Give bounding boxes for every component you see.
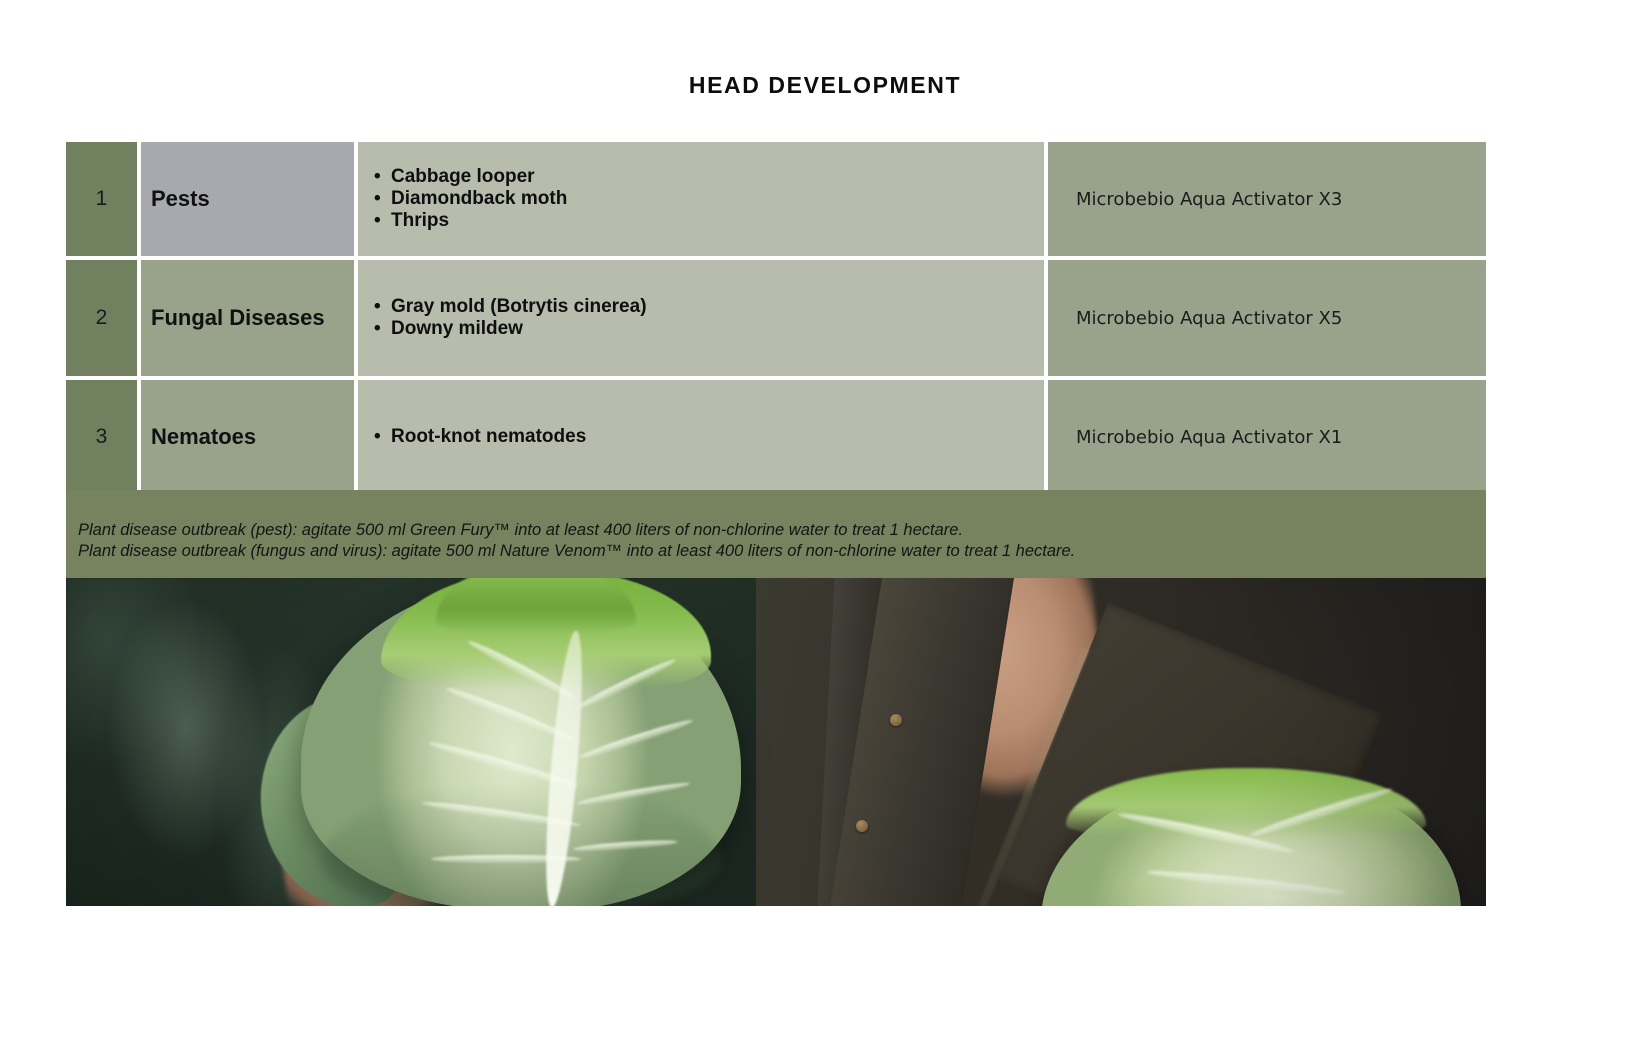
page-title: HEAD DEVELOPMENT [0,72,1650,99]
list-item: Cabbage looper [374,166,567,188]
garment-button [890,714,902,726]
note-line-pest: Plant disease outbreak (pest): agitate 5… [78,520,1486,541]
row-category-label: Fungal Diseases [141,260,354,376]
list-item: Root-knot nematodes [374,426,586,448]
list-item: Downy mildew [374,318,647,340]
treatment-note-band: Plant disease outbreak (pest): agitate 5… [66,490,1486,578]
row-product: Microbebio Aqua Activator X1 [1048,380,1486,494]
table-row: 1 Pests Cabbage looper Diamondback moth … [66,142,1486,256]
row-items: Gray mold (Botrytis cinerea) Downy milde… [358,260,1044,376]
row-category-label: Pests [141,142,354,256]
cabbage-harvest-photo [66,578,1486,906]
items-list: Root-knot nematodes [374,426,586,448]
note-line-fungus: Plant disease outbreak (fungus and virus… [78,541,1486,562]
cabbage-top-frill [436,578,636,634]
row-number: 2 [66,260,137,376]
list-item: Diamondback moth [374,188,567,210]
row-number: 3 [66,380,137,494]
row-items: Root-knot nematodes [358,380,1044,494]
treatment-table: 1 Pests Cabbage looper Diamondback moth … [66,142,1486,498]
row-category-label: Nematoes [141,380,354,494]
list-item: Gray mold (Botrytis cinerea) [374,296,647,318]
cabbage-primary [261,578,781,906]
row-product: Microbebio Aqua Activator X5 [1048,260,1486,376]
row-number: 1 [66,142,137,256]
items-list: Gray mold (Botrytis cinerea) Downy milde… [374,296,647,340]
row-items: Cabbage looper Diamondback moth Thrips [358,142,1044,256]
list-item: Thrips [374,210,567,232]
items-list: Cabbage looper Diamondback moth Thrips [374,166,567,233]
table-row: 3 Nematoes Root-knot nematodes Microbebi… [66,380,1486,494]
row-product: Microbebio Aqua Activator X3 [1048,142,1486,256]
table-row: 2 Fungal Diseases Gray mold (Botrytis ci… [66,260,1486,376]
garment-button [856,820,868,832]
